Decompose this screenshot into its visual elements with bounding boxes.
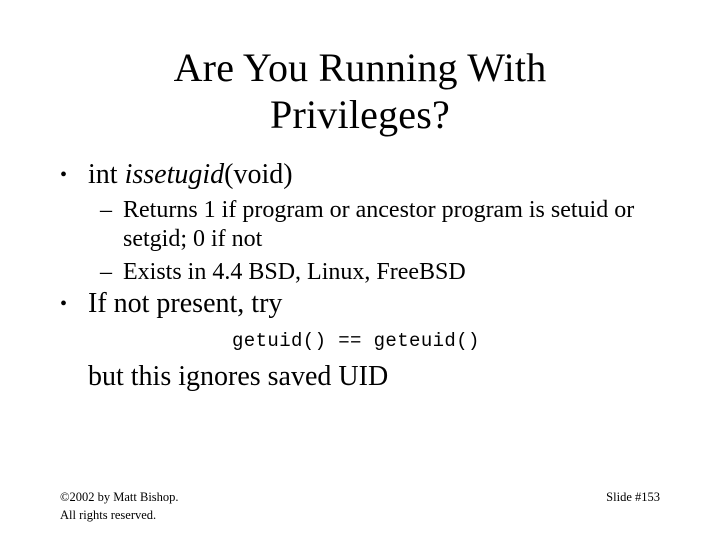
slide-canvas: Are You Running With Privileges? • int i… <box>0 0 720 540</box>
sub-bullet-text-returns: Returns 1 if program or ancestor program… <box>123 197 634 252</box>
sub-bullet-item-exists: – Exists in 4.4 BSD, Linux, FreeBSD <box>100 258 672 287</box>
bullet-item-issetugid: • int issetugid(void) <box>52 158 672 192</box>
footer-rights-line: All rights reserved. <box>60 506 179 524</box>
footer-copyright: ©2002 by Matt Bishop. All rights reserve… <box>60 488 179 524</box>
dash-icon: – <box>100 196 112 225</box>
slide-title: Are You Running With Privileges? <box>60 44 660 138</box>
bullet-dot-icon: • <box>60 287 67 321</box>
bullet-item-if-not-present: • If not present, try <box>52 287 672 321</box>
sub-bullet-text-exists: Exists in 4.4 BSD, Linux, FreeBSD <box>123 259 466 285</box>
code-snippet: getuid() == geteuid() <box>52 327 672 355</box>
slide-title-line-1: Are You Running With <box>60 44 660 91</box>
bullet-text-if-not-present: If not present, try <box>88 288 282 319</box>
footer-copyright-line: ©2002 by Matt Bishop. <box>60 488 179 506</box>
footer-slide-number: Slide #153 <box>606 488 660 506</box>
bullet-text-prefix: int <box>88 159 125 190</box>
bullet-text-issetugid: int issetugid(void) <box>88 159 293 190</box>
slide-title-line-2: Privileges? <box>60 91 660 138</box>
closing-note: but this ignores saved UID <box>52 360 672 394</box>
slide-body: • int issetugid(void) – Returns 1 if pro… <box>52 158 672 394</box>
bullet-dot-icon: • <box>60 158 67 192</box>
function-name-italic: issetugid <box>125 159 225 190</box>
bullet-text-suffix: (void) <box>224 159 292 190</box>
sub-bullet-item-returns: – Returns 1 if program or ancestor progr… <box>100 196 672 254</box>
dash-icon: – <box>100 258 112 287</box>
